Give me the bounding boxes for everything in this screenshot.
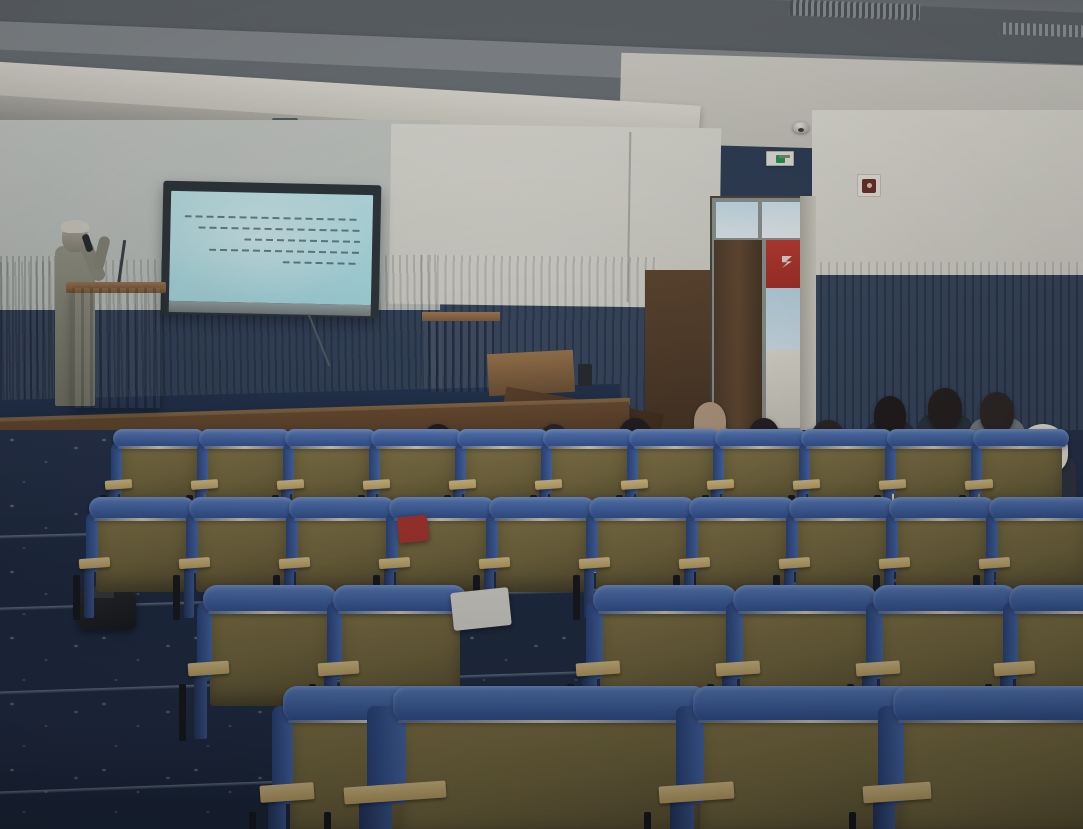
chair-pedestal (268, 801, 286, 829)
chair-pedestal (873, 801, 895, 829)
chair-piping-trim (898, 720, 1083, 723)
red-bag (397, 515, 430, 544)
chair-piping-trim (398, 720, 702, 723)
chair-floor-post (849, 812, 856, 829)
seating-row-row-foreground (0, 0, 1083, 829)
chair-top-rail (393, 686, 707, 722)
lecture-hall-photo (0, 0, 1083, 829)
auditorium-chair[interactable] (400, 700, 700, 829)
paper-sheet (450, 587, 512, 631)
chair-top-rail (893, 686, 1083, 722)
auditorium-chair[interactable] (900, 700, 1083, 829)
chair-pedestal (670, 801, 694, 829)
chair-floor-post (249, 812, 256, 829)
chair-floor-post (644, 812, 651, 829)
chair-pedestal (359, 801, 392, 829)
chair-floor-post (324, 812, 331, 829)
